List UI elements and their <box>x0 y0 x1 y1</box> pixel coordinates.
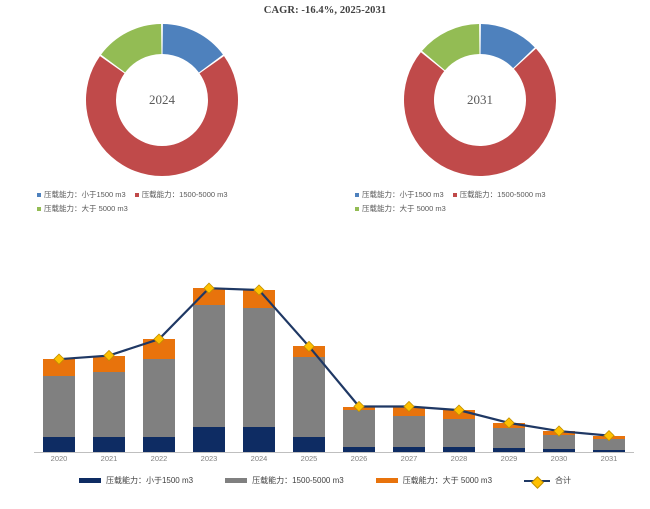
bar-segment-2 <box>293 346 325 357</box>
stacked-bar-chart: 2020202120222023202420252026202720282029… <box>0 262 650 509</box>
bar-segment-1 <box>543 435 575 450</box>
bar-column-2029[interactable] <box>484 270 534 452</box>
bar-segment-1 <box>343 410 375 446</box>
bar-segment-2 <box>93 356 125 372</box>
bar-legend-label: 合计 <box>555 475 571 486</box>
bar-stack <box>143 270 175 452</box>
legend-swatch-icon <box>79 478 101 483</box>
donut-legend-label: 压载能力：大于 5000 m3 <box>44 202 128 216</box>
bar-segment-0 <box>293 437 325 452</box>
donut-legend-label: 压载能力：大于 5000 m3 <box>362 202 446 216</box>
x-axis-label-2029: 2029 <box>484 454 534 463</box>
bar-legend-item-2[interactable]: 压载能力：大于 5000 m3 <box>376 475 492 486</box>
bar-stack <box>443 270 475 452</box>
x-axis-label-2022: 2022 <box>134 454 184 463</box>
bar-stack <box>593 270 625 452</box>
bar-segment-1 <box>593 439 625 450</box>
donut-legend-2031: 压载能力：小于1500 m3压载能力：1500-5000 m3压载能力：大于 5… <box>355 188 605 217</box>
bar-segment-1 <box>193 305 225 427</box>
bar-segment-1 <box>443 419 475 446</box>
donut-slice-1 <box>86 56 238 176</box>
donut-svg-2031 <box>402 22 558 178</box>
x-axis-label-2023: 2023 <box>184 454 234 463</box>
donut-chart-2031: 2031 压载能力：小于1500 m3压载能力：1500-5000 m3压载能力… <box>330 22 630 217</box>
x-axis-label-2024: 2024 <box>234 454 284 463</box>
bar-column-2027[interactable] <box>384 270 434 452</box>
plot-area <box>34 270 634 452</box>
bar-stack <box>343 270 375 452</box>
legend-swatch-icon <box>37 207 41 211</box>
legend-swatch-icon <box>355 207 359 211</box>
legend-swatch-icon <box>376 478 398 483</box>
donut-legend-label: 压载能力：小于1500 m3 <box>44 188 126 202</box>
bar-column-2021[interactable] <box>84 270 134 452</box>
donut-legend-label: 压载能力：1500-5000 m3 <box>142 188 228 202</box>
bar-chart-legend: 压载能力：小于1500 m3压载能力：1500-5000 m3压载能力：大于 5… <box>0 475 650 486</box>
x-axis-label-2027: 2027 <box>384 454 434 463</box>
bar-column-2025[interactable] <box>284 270 334 452</box>
legend-swatch-icon <box>225 478 247 483</box>
bar-column-2020[interactable] <box>34 270 84 452</box>
donut-legend-item-1[interactable]: 压载能力：1500-5000 m3 <box>453 188 546 202</box>
bar-segment-1 <box>493 428 525 448</box>
bar-stack <box>243 270 275 452</box>
x-axis-label-2028: 2028 <box>434 454 484 463</box>
bar-stack <box>293 270 325 452</box>
bar-legend-label: 压载能力：小于1500 m3 <box>106 475 193 486</box>
bar-legend-label: 压载能力：大于 5000 m3 <box>403 475 492 486</box>
bar-segment-0 <box>243 427 275 452</box>
bar-legend-label: 压载能力：1500-5000 m3 <box>252 475 344 486</box>
donut-legend-label: 压载能力：1500-5000 m3 <box>460 188 546 202</box>
bar-segment-1 <box>93 372 125 438</box>
bar-stack <box>493 270 525 452</box>
bar-legend-item-0[interactable]: 压载能力：小于1500 m3 <box>79 475 193 486</box>
bar-stack <box>193 270 225 452</box>
donut-chart-2024: 2024 压载能力：小于1500 m3压载能力：1500-5000 m3压载能力… <box>12 22 312 217</box>
bar-column-2022[interactable] <box>134 270 184 452</box>
bar-column-2023[interactable] <box>184 270 234 452</box>
x-axis-label-2025: 2025 <box>284 454 334 463</box>
legend-swatch-icon <box>37 193 41 197</box>
donut-legend-item-2[interactable]: 压载能力：大于 5000 m3 <box>37 202 128 216</box>
x-axis-label-2021: 2021 <box>84 454 134 463</box>
x-axis-label-2031: 2031 <box>584 454 634 463</box>
bar-segment-1 <box>243 308 275 426</box>
donut-legend-item-0[interactable]: 压载能力：小于1500 m3 <box>355 188 444 202</box>
bar-segment-1 <box>143 359 175 437</box>
x-axis-label-2026: 2026 <box>334 454 384 463</box>
bar-column-2030[interactable] <box>534 270 584 452</box>
bar-stack <box>93 270 125 452</box>
legend-swatch-icon <box>135 193 139 197</box>
donut-ring-2024: 2024 <box>84 22 240 178</box>
bar-segment-2 <box>43 359 75 375</box>
bar-segment-0 <box>93 437 125 452</box>
bar-series-container <box>34 270 634 452</box>
donut-ring-2031: 2031 <box>402 22 558 178</box>
donut-legend-item-0[interactable]: 压载能力：小于1500 m3 <box>37 188 126 202</box>
bar-segment-2 <box>243 290 275 308</box>
legend-swatch-icon <box>453 193 457 197</box>
bar-segment-0 <box>43 437 75 452</box>
bar-legend-item-3[interactable]: 合计 <box>524 475 571 486</box>
bar-stack <box>543 270 575 452</box>
bar-segment-1 <box>43 376 75 438</box>
bar-segment-2 <box>143 339 175 359</box>
bar-stack <box>43 270 75 452</box>
page-title: CAGR: -16.4%, 2025-2031 <box>0 5 650 16</box>
legend-line-marker-icon <box>524 477 550 485</box>
bar-column-2024[interactable] <box>234 270 284 452</box>
bar-column-2026[interactable] <box>334 270 384 452</box>
x-axis-labels: 2020202120222023202420252026202720282029… <box>34 454 634 463</box>
x-axis-label-2020: 2020 <box>34 454 84 463</box>
donut-legend-label: 压载能力：小于1500 m3 <box>362 188 444 202</box>
donut-slice-1 <box>404 49 556 176</box>
bar-segment-2 <box>443 410 475 419</box>
bar-legend-item-1[interactable]: 压载能力：1500-5000 m3 <box>225 475 344 486</box>
donut-svg-2024 <box>84 22 240 178</box>
bar-segment-0 <box>193 427 225 452</box>
legend-swatch-icon <box>355 193 359 197</box>
donut-legend-item-2[interactable]: 压载能力：大于 5000 m3 <box>355 202 446 216</box>
x-axis-line <box>34 452 634 453</box>
donut-legend-2024: 压载能力：小于1500 m3压载能力：1500-5000 m3压载能力：大于 5… <box>37 188 287 217</box>
bar-segment-0 <box>143 437 175 452</box>
bar-column-2031[interactable] <box>584 270 634 452</box>
bar-segment-2 <box>193 288 225 304</box>
bar-column-2028[interactable] <box>434 270 484 452</box>
bar-stack <box>393 270 425 452</box>
bar-segment-1 <box>393 416 425 447</box>
bar-segment-2 <box>393 407 425 416</box>
donut-legend-item-1[interactable]: 压载能力：1500-5000 m3 <box>135 188 228 202</box>
bar-segment-1 <box>293 357 325 437</box>
x-axis-label-2030: 2030 <box>534 454 584 463</box>
